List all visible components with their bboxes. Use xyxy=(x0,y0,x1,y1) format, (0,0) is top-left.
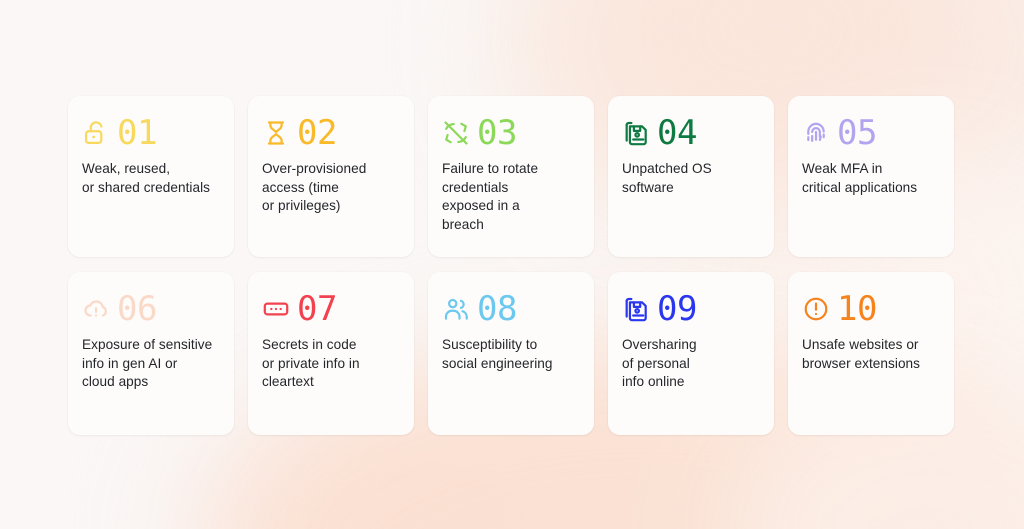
card-header: 02 xyxy=(262,113,337,153)
card-header: 01 xyxy=(82,113,157,153)
risk-card-01: 01Weak, reused, or shared credentials xyxy=(68,96,234,257)
users-icon xyxy=(442,295,470,323)
fingerprint-icon xyxy=(802,119,830,147)
card-number: 02 xyxy=(297,116,337,150)
risk-card-10: 10Unsafe websites or browser extensions xyxy=(788,272,954,435)
risk-card-06: 06Exposure of sensitive info in gen AI o… xyxy=(68,272,234,435)
password-field-icon xyxy=(262,295,290,323)
card-number: 01 xyxy=(117,116,157,150)
card-header: 06 xyxy=(82,289,157,329)
card-number: 08 xyxy=(477,292,517,326)
card-description: Unsafe websites or browser extensions xyxy=(802,336,920,373)
card-header: 08 xyxy=(442,289,517,329)
card-header: 03 xyxy=(442,113,517,153)
card-description: Susceptibility to social engineering xyxy=(442,336,552,373)
risk-card-03: 03Failure to rotate credentials exposed … xyxy=(428,96,594,257)
hourglass-icon xyxy=(262,119,290,147)
card-header: 10 xyxy=(802,289,877,329)
card-number: 06 xyxy=(117,292,157,326)
risk-card-09: 09Oversharing of personal info online xyxy=(608,272,774,435)
floppy-disk-icon xyxy=(622,295,650,323)
risk-card-05: 05Weak MFA in critical applications xyxy=(788,96,954,257)
card-description: Unpatched OS software xyxy=(622,160,712,197)
card-description: Oversharing of personal info online xyxy=(622,336,697,392)
card-description: Weak, reused, or shared credentials xyxy=(82,160,210,197)
card-number: 05 xyxy=(837,116,877,150)
card-header: 05 xyxy=(802,113,877,153)
cloud-alert-icon xyxy=(82,295,110,323)
card-header: 07 xyxy=(262,289,337,329)
card-description: Over-provisioned access (time or privile… xyxy=(262,160,366,216)
refresh-off-icon xyxy=(442,119,470,147)
risk-card-02: 02Over-provisioned access (time or privi… xyxy=(248,96,414,257)
card-number: 09 xyxy=(657,292,697,326)
risk-card-04: 04Unpatched OS software xyxy=(608,96,774,257)
card-number: 04 xyxy=(657,116,697,150)
floppy-disk-icon xyxy=(622,119,650,147)
card-number: 10 xyxy=(837,292,877,326)
card-number: 07 xyxy=(297,292,337,326)
card-description: Weak MFA in critical applications xyxy=(802,160,917,197)
card-description: Exposure of sensitive info in gen AI or … xyxy=(82,336,212,392)
card-header: 04 xyxy=(622,113,697,153)
card-description: Secrets in code or private info in clear… xyxy=(262,336,360,392)
risk-card-07: 07Secrets in code or private info in cle… xyxy=(248,272,414,435)
alert-circle-icon xyxy=(802,295,830,323)
card-number: 03 xyxy=(477,116,517,150)
unlock-icon xyxy=(82,119,110,147)
card-description: Failure to rotate credentials exposed in… xyxy=(442,160,538,234)
risk-card-08: 08Susceptibility to social engineering xyxy=(428,272,594,435)
card-header: 09 xyxy=(622,289,697,329)
risk-card-grid: 01Weak, reused, or shared credentials02O… xyxy=(68,96,968,435)
